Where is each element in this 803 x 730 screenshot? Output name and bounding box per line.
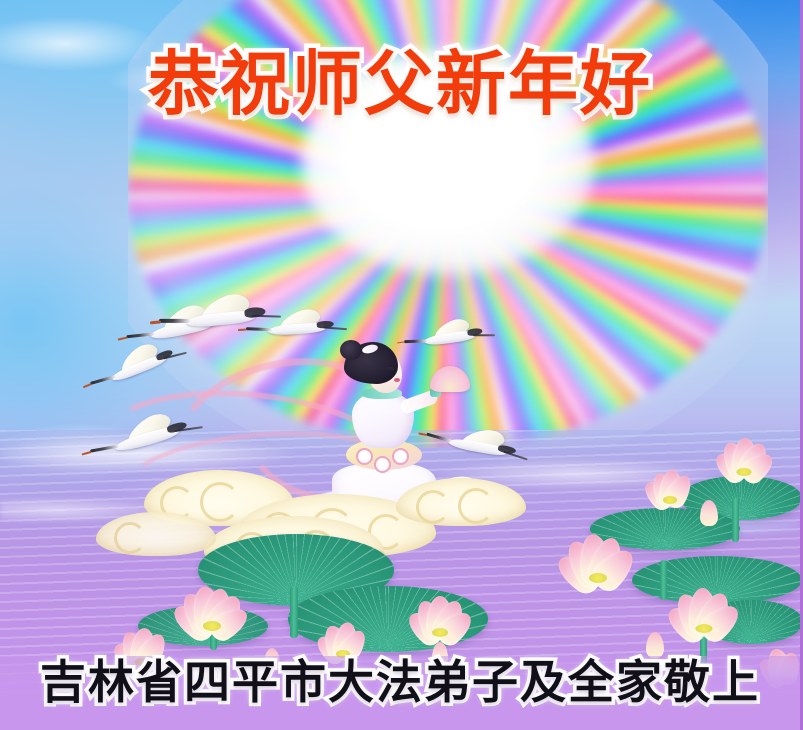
burst-core-center [339, 76, 544, 229]
flying-crane [267, 312, 327, 346]
lotus-center [737, 468, 752, 476]
held-lotus-flower [430, 366, 470, 392]
fairy-sash-ornament [356, 448, 373, 465]
lotus-flower [300, 622, 386, 660]
lotus-center [203, 621, 221, 631]
fairy-hair-bun [340, 340, 362, 360]
lotus-flower [540, 534, 656, 586]
lotus-stem [290, 586, 298, 638]
cloud-curl [114, 522, 146, 554]
flying-crane [184, 296, 258, 341]
bottom-color-band [0, 656, 800, 730]
lotus-flower [700, 438, 788, 478]
lotus-flower [650, 588, 758, 636]
lotus-center [432, 628, 448, 637]
fairy-lip [394, 378, 400, 382]
crane-neck [159, 319, 190, 323]
fairy-sash-ornament [374, 456, 391, 473]
lotus-center [589, 573, 607, 583]
lotus-center [663, 496, 677, 504]
cloud-curl [200, 482, 240, 522]
greeting-card: 恭祝师父新年好 恭祝师父新年好 吉林省四平市大法弟子及全家敬上 吉林省四平市大法… [0, 0, 803, 730]
lotus-center [696, 624, 713, 633]
lotus-flower [392, 598, 488, 640]
lotus-flower [156, 586, 268, 634]
fairy-sash-ornament [392, 448, 409, 465]
lotus-stem [732, 498, 739, 542]
lotus-flower [630, 470, 710, 506]
cloud-curl [458, 488, 494, 524]
cloud-curl [416, 490, 450, 524]
